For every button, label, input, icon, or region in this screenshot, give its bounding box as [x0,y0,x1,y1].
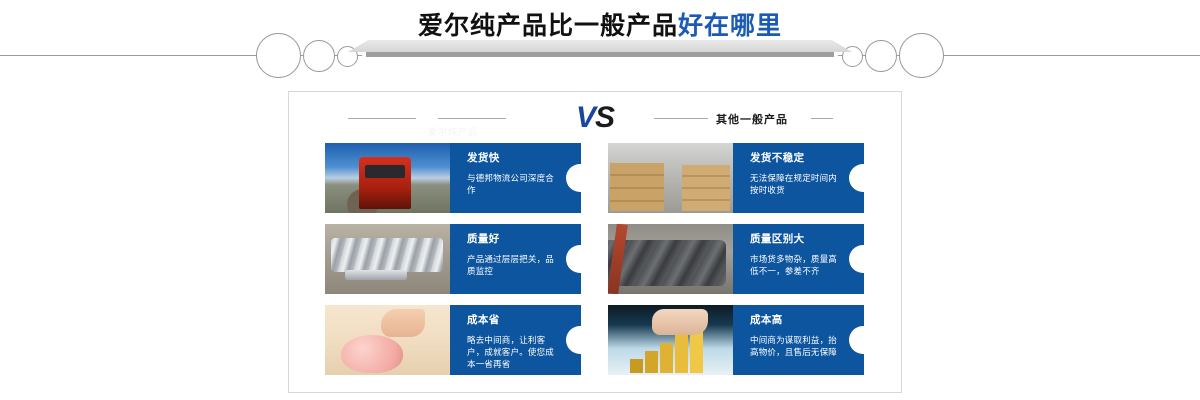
list-item[interactable]: 发货不稳定 无法保障在规定时间内按时收货 [608,143,864,213]
card-thumbnail-red-truck [325,143,450,213]
card-body: 发货快 与德邦物流公司深度合作 [450,143,581,213]
list-item[interactable]: 发货快 与德邦物流公司深度合作 [325,143,581,213]
page-header: 爱尔纯产品比一般产品好在哪里 [0,0,1200,88]
card-description: 与德邦物流公司深度合作 [467,172,555,196]
card-description: 中间商为谋取利益，抬高物价，且售后无保障 [750,334,838,358]
vs-badge: VS [288,98,902,138]
page-title: 爱尔纯产品比一般产品好在哪里 [0,10,1200,42]
header-rule-left [0,55,258,56]
card-notch-circle [566,326,581,354]
card-thumbnail-grey-pipes [608,224,733,294]
page-title-accent: 好在哪里 [678,12,782,40]
card-body: 发货不稳定 无法保障在规定时间内按时收货 [733,143,864,213]
card-description: 市场货多物杂，质量高低不一，参差不齐 [750,253,838,277]
card-body: 成本高 中间商为谋取利益，抬高物价，且售后无保障 [733,305,864,375]
column-others: 发货不稳定 无法保障在规定时间内按时收货 质量区别大 市场货多物杂，质量高低不一… [608,143,864,386]
list-item[interactable]: 成本省 略去中间商，让利客户，成就客户。使您成本一省再省 [325,305,581,375]
vs-header-row: 爱尔纯产品 其他一般产品 VS [288,98,902,142]
card-body: 质量区别大 市场货多物杂，质量高低不一，参差不齐 [733,224,864,294]
card-title: 发货不稳定 [750,152,838,165]
decorative-circle-left-medium [303,40,335,72]
card-notch-circle [566,164,581,192]
column-ours: 发货快 与德邦物流公司深度合作 质量好 产品通过层层把关，品质监控 成本省 略去… [325,143,581,386]
card-thumbnail-metal-cylinders [325,224,450,294]
card-title: 质量区别大 [750,233,838,246]
card-title: 成本高 [750,314,838,327]
list-item[interactable]: 成本高 中间商为谋取利益，抬高物价，且售后无保障 [608,305,864,375]
card-notch-circle [566,245,581,273]
card-notch-circle [849,164,864,192]
decorative-circle-right-medium [865,40,897,72]
card-title: 质量好 [467,233,555,246]
vs-letter-s: S [595,101,614,134]
card-description: 无法保障在规定时间内按时收货 [750,172,838,196]
comparison-columns: 发货快 与德邦物流公司深度合作 质量好 产品通过层层把关，品质监控 成本省 略去… [288,143,902,388]
list-item[interactable]: 质量区别大 市场货多物杂，质量高低不一，参差不齐 [608,224,864,294]
vs-letter-v: V [576,101,595,134]
list-item[interactable]: 质量好 产品通过层层把关，品质监控 [325,224,581,294]
card-body: 成本省 略去中间商，让利客户，成就客户。使您成本一省再省 [450,305,581,375]
card-body: 质量好 产品通过层层把关，品质监控 [450,224,581,294]
card-description: 产品通过层层把关，品质监控 [467,253,555,277]
card-notch-circle [849,326,864,354]
platform-front-face [366,52,834,57]
card-title: 发货快 [467,152,555,165]
headline-platform [348,40,852,56]
card-notch-circle [849,245,864,273]
card-thumbnail-piggy-bank [325,305,450,375]
card-title: 成本省 [467,314,555,327]
card-description: 略去中间商，让利客户，成就客户。使您成本一省再省 [467,334,555,370]
page-title-main: 爱尔纯产品比一般产品 [418,12,678,40]
card-thumbnail-warehouse [608,143,733,213]
header-rule-right [942,55,1200,56]
card-thumbnail-gold-coins [608,305,733,375]
